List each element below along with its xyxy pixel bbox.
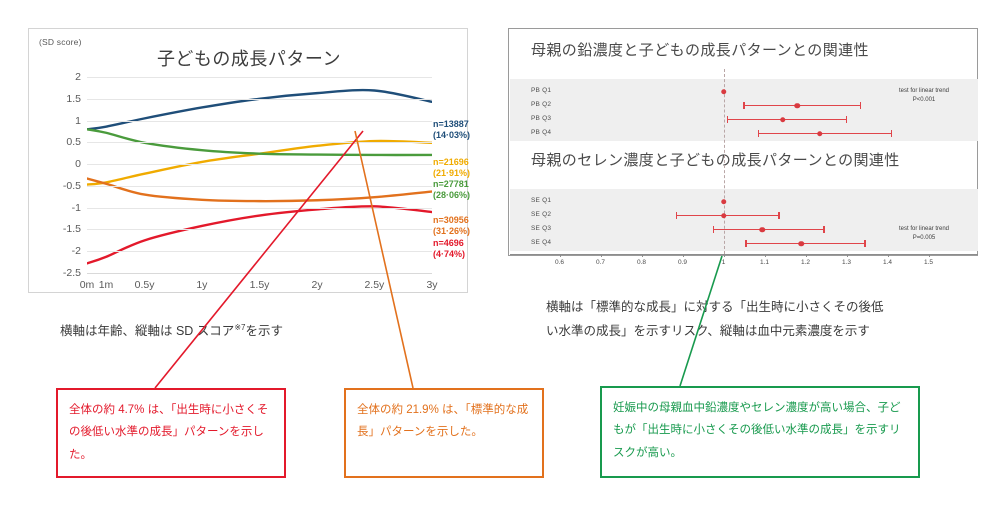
selenium-section-heading: 母親のセレン濃度と子どもの成長パターンとの関連性 bbox=[531, 149, 900, 170]
growth-gridline bbox=[87, 77, 432, 78]
growth-y-tick-label: -1.5 bbox=[63, 223, 81, 235]
forest-point-estimate bbox=[795, 103, 801, 109]
left-caption-footnote-marker: ※7 bbox=[234, 323, 245, 332]
growth-series-label: n=30956(31·26%) bbox=[433, 215, 470, 238]
forest-confidence-interval bbox=[676, 215, 779, 216]
forest-tick-mark bbox=[847, 254, 848, 257]
forest-x-tick-label: 1.3 bbox=[842, 259, 851, 266]
growth-series-count: n=4696 bbox=[433, 238, 465, 249]
growth-series-lines bbox=[87, 77, 432, 273]
growth-x-tick-label: 0.5y bbox=[135, 279, 155, 291]
growth-series-label: n=21696(21·91%) bbox=[433, 157, 470, 180]
growth-gridline bbox=[87, 164, 432, 165]
forest-row-label: PB Q3 bbox=[531, 115, 551, 122]
left-caption-main: 横軸は年齢、縦軸は SD スコア bbox=[60, 324, 234, 338]
forest-confidence-interval bbox=[746, 243, 865, 244]
forest-confidence-interval bbox=[713, 229, 824, 230]
forest-reference-line bbox=[724, 69, 726, 254]
growth-gridline bbox=[87, 186, 432, 187]
growth-series-line bbox=[87, 206, 432, 263]
forest-ci-cap bbox=[676, 212, 677, 219]
right-caption-line-2: い水準の成長」を示すリスク、縦軸は血中元素濃度を示す bbox=[546, 320, 966, 344]
slide-canvas: (SD score) 子どもの成長パターン 21.510.50-0.5-1-1.… bbox=[0, 0, 1000, 514]
lead-section-heading: 母親の鉛濃度と子どもの成長パターンとの関連性 bbox=[531, 39, 869, 60]
forest-row-label: SE Q4 bbox=[531, 239, 551, 246]
growth-y-tick-label: -2 bbox=[72, 245, 81, 257]
forest-tick-mark bbox=[560, 254, 561, 257]
growth-x-tick-label: 1y bbox=[196, 279, 207, 291]
growth-y-tick-label: 0.5 bbox=[66, 136, 81, 148]
growth-series-label: n=4696(4·74%) bbox=[433, 238, 465, 261]
forest-ci-cap bbox=[823, 226, 824, 233]
left-chart-caption: 横軸は年齢、縦軸は SD スコア※7を示す bbox=[60, 320, 283, 344]
forest-row-label: SE Q2 bbox=[531, 211, 551, 218]
callout-green-text: 妊娠中の母親血中鉛濃度やセレン濃度が高い場合、子どもが「出生時に小さくその後低い… bbox=[613, 402, 901, 459]
growth-series-label: n=27781(28·06%) bbox=[433, 179, 470, 202]
callout-orange-text: 全体の約 21.9% は、「標準的な成長」パターンを示した。 bbox=[357, 404, 528, 438]
forest-x-tick-label: 1.5 bbox=[924, 259, 933, 266]
left-caption-tail: を示す bbox=[245, 324, 283, 338]
forest-point-estimate bbox=[721, 199, 727, 205]
forest-tick-mark bbox=[929, 254, 930, 257]
right-chart-caption: 横軸は「標準的な成長」に対する「出生時に小さくその後低 い水準の成長」を示すリス… bbox=[546, 296, 966, 344]
growth-y-tick-label: -2.5 bbox=[63, 267, 81, 279]
callout-orange-box: 全体の約 21.9% は、「標準的な成長」パターンを示した。 bbox=[344, 388, 544, 478]
forest-x-tick-label: 1 bbox=[722, 259, 726, 266]
growth-series-count: n=13887 bbox=[433, 119, 470, 130]
forest-ci-cap bbox=[891, 130, 892, 137]
growth-series-count: n=27781 bbox=[433, 179, 470, 190]
forest-x-tick-label: 0.6 bbox=[555, 259, 564, 266]
forest-tick-mark bbox=[888, 254, 889, 257]
forest-ci-cap bbox=[778, 212, 779, 219]
growth-y-tick-label: 0 bbox=[75, 158, 81, 170]
growth-series-percent: (31·26%) bbox=[433, 226, 470, 237]
forest-ci-cap bbox=[745, 240, 746, 247]
callout-green-box: 妊娠中の母親血中鉛濃度やセレン濃度が高い場合、子どもが「出生時に小さくその後低い… bbox=[600, 386, 920, 478]
forest-confidence-interval bbox=[758, 133, 891, 134]
growth-gridline bbox=[87, 121, 432, 122]
forest-tick-mark bbox=[765, 254, 766, 257]
callout-red-text: 全体の約 4.7% は、「出生時に小さくその後低い水準の成長」パターンを示した。 bbox=[69, 404, 268, 461]
growth-gridline bbox=[87, 208, 432, 209]
growth-x-tick-label: 2y bbox=[312, 279, 323, 291]
forest-tick-mark bbox=[683, 254, 684, 257]
growth-y-tick-label: 2 bbox=[75, 71, 81, 83]
forest-tick-mark bbox=[601, 254, 602, 257]
selenium-trend-label: test for linear trend bbox=[869, 225, 979, 234]
forest-plot-panel: 母親の鉛濃度と子どもの成長パターンとの関連性 母親のセレン濃度と子どもの成長パタ… bbox=[508, 28, 978, 256]
growth-x-axis-rule bbox=[87, 273, 432, 274]
forest-row-label: PB Q1 bbox=[531, 87, 551, 94]
growth-gridline bbox=[87, 229, 432, 230]
growth-plot-area: 21.510.50-0.5-1-1.5-2-2.5 0m1m0.5y1y1.5y… bbox=[87, 77, 432, 273]
forest-x-tick-label: 1.2 bbox=[801, 259, 810, 266]
growth-x-tick-label: 1.5y bbox=[250, 279, 270, 291]
forest-ci-cap bbox=[864, 240, 865, 247]
growth-series-percent: (28·06%) bbox=[433, 190, 470, 201]
forest-x-tick-label: 0.9 bbox=[678, 259, 687, 266]
forest-confidence-interval bbox=[728, 119, 847, 120]
forest-ci-cap bbox=[758, 130, 759, 137]
growth-series-line bbox=[87, 141, 432, 185]
forest-point-estimate bbox=[760, 227, 766, 233]
forest-ci-cap bbox=[743, 102, 744, 109]
forest-row-label: PB Q2 bbox=[531, 101, 551, 108]
forest-point-estimate bbox=[721, 213, 727, 219]
callout-red-box: 全体の約 4.7% は、「出生時に小さくその後低い水準の成長」パターンを示した。 bbox=[56, 388, 286, 478]
growth-x-tick-label: 3y bbox=[426, 279, 437, 291]
forest-ci-cap bbox=[860, 102, 861, 109]
growth-series-percent: (21·91%) bbox=[433, 168, 470, 179]
growth-series-percent: (4·74%) bbox=[433, 249, 465, 260]
forest-confidence-interval bbox=[744, 105, 861, 106]
growth-series-line bbox=[87, 90, 432, 129]
forest-x-tick-label: 1.4 bbox=[883, 259, 892, 266]
forest-tick-mark bbox=[642, 254, 643, 257]
forest-point-estimate bbox=[721, 89, 727, 95]
forest-tick-mark bbox=[724, 254, 725, 257]
growth-series-count: n=30956 bbox=[433, 215, 470, 226]
forest-x-axis-line bbox=[510, 254, 978, 255]
lead-trend-pvalue: P<0.001 bbox=[869, 96, 979, 105]
growth-y-tick-label: 1.5 bbox=[66, 93, 81, 105]
lead-trend-label: test for linear trend bbox=[869, 87, 979, 96]
growth-gridline bbox=[87, 99, 432, 100]
forest-ci-cap bbox=[713, 226, 714, 233]
forest-x-tick-label: 0.7 bbox=[596, 259, 605, 266]
growth-series-count: n=21696 bbox=[433, 157, 470, 168]
selenium-trend-annotation: test for linear trend P=0.005 bbox=[869, 225, 979, 243]
growth-gridline bbox=[87, 251, 432, 252]
forest-x-tick-label: 0.8 bbox=[637, 259, 646, 266]
growth-x-tick-label: 0m bbox=[80, 279, 95, 291]
forest-point-estimate bbox=[780, 117, 786, 123]
selenium-trend-pvalue: P=0.005 bbox=[869, 234, 979, 243]
lead-trend-annotation: test for linear trend P<0.001 bbox=[869, 87, 979, 105]
forest-x-tick-label: 1.1 bbox=[760, 259, 769, 266]
forest-ci-cap bbox=[727, 116, 728, 123]
growth-pattern-chart: (SD score) 子どもの成長パターン 21.510.50-0.5-1-1.… bbox=[28, 28, 468, 293]
forest-tick-mark bbox=[806, 254, 807, 257]
growth-series-line bbox=[87, 178, 432, 201]
forest-row-label: PB Q4 bbox=[531, 129, 551, 136]
forest-row-label: SE Q1 bbox=[531, 197, 551, 204]
right-caption-line-1: 横軸は「標準的な成長」に対する「出生時に小さくその後低 bbox=[546, 296, 966, 320]
growth-y-tick-label: 1 bbox=[75, 115, 81, 127]
growth-y-tick-label: -0.5 bbox=[63, 180, 81, 192]
growth-series-percent: (14·03%) bbox=[433, 130, 470, 141]
growth-chart-title: 子どもの成長パターン bbox=[29, 45, 469, 71]
growth-y-tick-label: -1 bbox=[72, 202, 81, 214]
growth-series-label: n=13887(14·03%) bbox=[433, 119, 470, 142]
forest-point-estimate bbox=[799, 241, 805, 247]
growth-gridline bbox=[87, 142, 432, 143]
forest-row-label: SE Q3 bbox=[531, 225, 551, 232]
forest-ci-cap bbox=[846, 116, 847, 123]
growth-x-tick-label: 2.5y bbox=[364, 279, 384, 291]
forest-point-estimate bbox=[817, 131, 823, 137]
growth-x-tick-label: 1m bbox=[99, 279, 114, 291]
